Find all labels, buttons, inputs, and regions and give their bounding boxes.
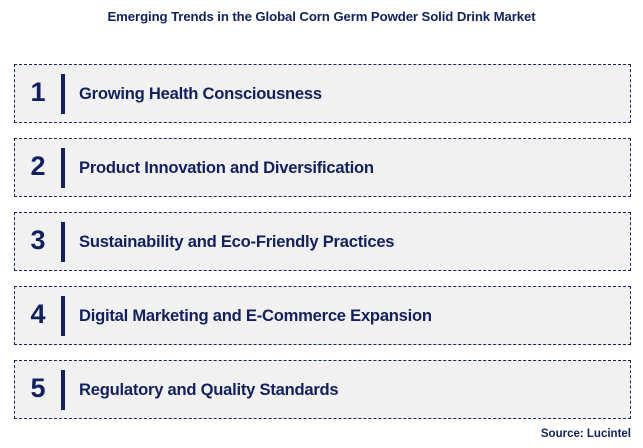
list-item[interactable]: 2 Product Innovation and Diversification	[14, 138, 631, 197]
trend-rank-number: 5	[15, 375, 61, 404]
trend-rank-number: 4	[15, 301, 61, 330]
list-item[interactable]: 5 Regulatory and Quality Standards	[14, 360, 631, 419]
list-item[interactable]: 4 Digital Marketing and E-Commerce Expan…	[14, 286, 631, 345]
list-item[interactable]: 3 Sustainability and Eco-Friendly Practi…	[14, 212, 631, 271]
trend-label: Product Innovation and Diversification	[65, 158, 630, 178]
infographic-page: Emerging Trends in the Global Corn Germ …	[0, 0, 643, 448]
page-title: Emerging Trends in the Global Corn Germ …	[0, 9, 643, 24]
list-item[interactable]: 1 Growing Health Consciousness	[14, 64, 631, 123]
trend-rank-number: 3	[15, 227, 61, 256]
trend-label: Sustainability and Eco-Friendly Practice…	[65, 232, 630, 252]
trend-label: Digital Marketing and E-Commerce Expansi…	[65, 306, 630, 326]
trend-rank-number: 2	[15, 153, 61, 182]
trend-rank-number: 1	[15, 79, 61, 108]
source-attribution: Source: Lucintel	[541, 428, 631, 440]
trend-list: 1 Growing Health Consciousness 2 Product…	[14, 64, 631, 419]
trend-label: Regulatory and Quality Standards	[65, 380, 630, 400]
trend-label: Growing Health Consciousness	[65, 84, 630, 104]
